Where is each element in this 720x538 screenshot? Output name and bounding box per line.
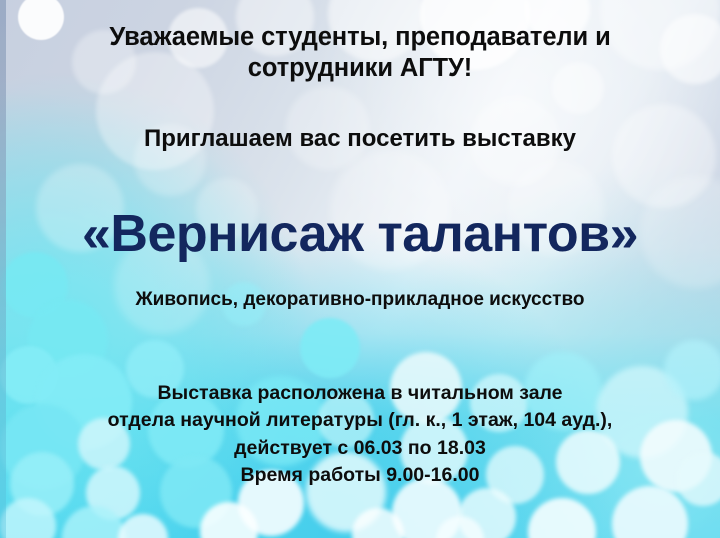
details-block: Выставка расположена в читальном зале от… bbox=[0, 380, 720, 489]
subtitle-art-categories: Живопись, декоративно-прикладное искусст… bbox=[0, 288, 720, 311]
detail-dates-line: действует с 06.03 по 18.03 bbox=[0, 435, 720, 462]
page-title: «Вернисаж талантов» bbox=[0, 203, 720, 266]
exhibition-announcement-poster: Уважаемые студенты, преподаватели и сотр… bbox=[0, 0, 720, 538]
detail-address-line: отдела научной литературы (гл. к., 1 эта… bbox=[0, 407, 720, 434]
invitation-text: Приглашаем вас посетить выставку bbox=[0, 124, 720, 153]
poster-content: Уважаемые студенты, преподаватели и сотр… bbox=[0, 0, 720, 538]
detail-hours-line: Время работы 9.00-16.00 bbox=[0, 462, 720, 489]
greeting-text: Уважаемые студенты, преподаватели и сотр… bbox=[0, 22, 720, 84]
detail-location-line: Выставка расположена в читальном зале bbox=[0, 380, 720, 407]
